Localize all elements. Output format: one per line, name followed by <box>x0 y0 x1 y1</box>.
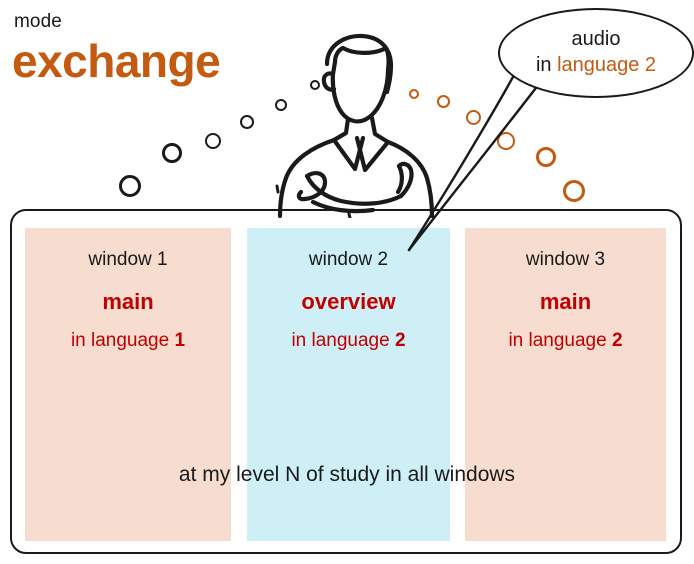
thought-dot-right-6 <box>563 180 585 202</box>
diagram-canvas: mode exchange <box>0 0 694 564</box>
person-illustration-icon <box>255 18 455 218</box>
thought-dot-right-4 <box>497 132 515 150</box>
thought-dot-left-1 <box>119 175 141 197</box>
windows-panel <box>10 209 682 554</box>
mode-title: exchange <box>12 38 220 84</box>
speech-bubble-line-2: in language 2 <box>536 53 656 79</box>
speech-bubble-line-1: audio <box>572 27 621 53</box>
thought-dot-right-5 <box>536 147 556 167</box>
speech-bubble-line-2-prefix: in <box>536 54 557 76</box>
thought-dot-right-3 <box>466 110 481 125</box>
thought-dot-left-3 <box>205 133 221 149</box>
thought-dot-left-2 <box>162 143 182 163</box>
audio-speech-bubble: audio in language 2 <box>498 8 694 98</box>
thought-dot-left-4 <box>240 115 254 129</box>
mode-label: mode <box>14 11 62 33</box>
speech-bubble-line-2-highlight: language 2 <box>557 54 656 76</box>
